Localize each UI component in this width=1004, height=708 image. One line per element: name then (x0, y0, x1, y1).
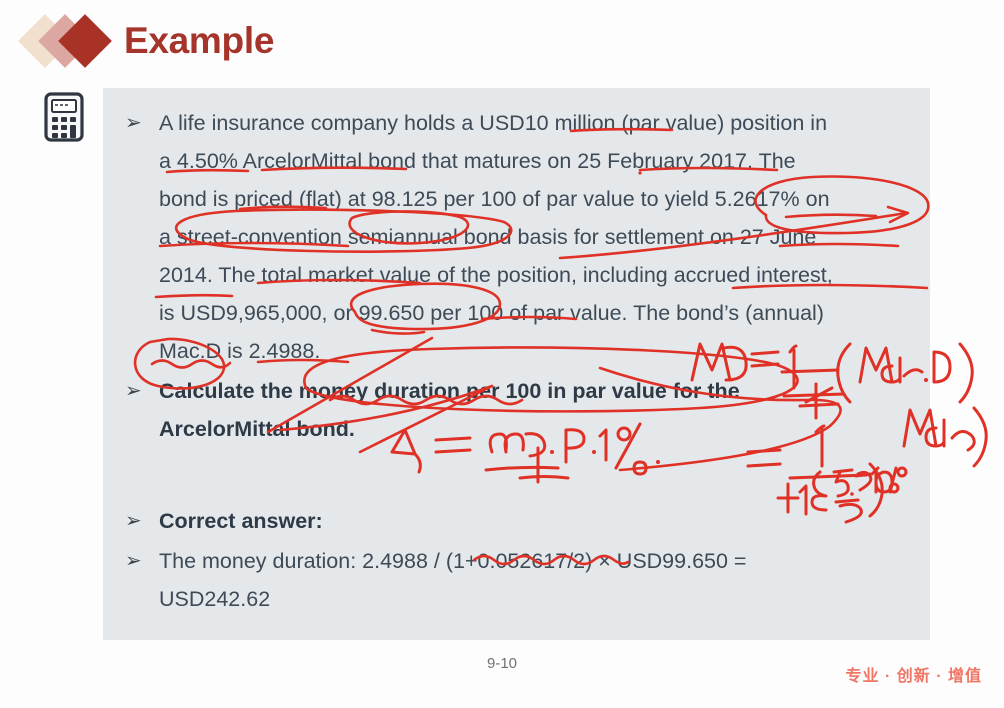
text-line: bond is priced (flat) at 98.125 per 100 … (159, 180, 900, 218)
page-title: Example (124, 20, 274, 62)
text-line: 2014. The total market value of the posi… (159, 256, 900, 294)
text-line: is USD9,965,000, or 99.650 per 100 of pa… (159, 294, 900, 332)
spacer (123, 450, 900, 502)
slide-title-row: Example (22, 12, 274, 70)
bullet-arrow-icon: ➢ (123, 542, 159, 580)
question-stem: A life insurance company holds a USD10 m… (159, 104, 900, 370)
text-line: USD242.62 (159, 580, 900, 618)
bullet-arrow-icon: ➢ (123, 502, 159, 540)
text-line: Correct answer: (159, 502, 900, 540)
list-item: ➢ Calculate the money duration per 100 i… (123, 372, 900, 448)
text-line: The money duration: 2.4988 / (1+0.052617… (159, 542, 900, 580)
logo-diamonds (22, 12, 130, 70)
content-body: ➢ A life insurance company holds a USD10… (103, 88, 930, 640)
list-item: ➢ A life insurance company holds a USD10… (123, 104, 900, 370)
list-item: ➢ The money duration: 2.4988 / (1+0.0526… (123, 542, 900, 618)
calculator-icon (44, 92, 84, 142)
list-item: ➢ Correct answer: (123, 502, 900, 540)
text-line: a 4.50% ArcelorMittal bond that matures … (159, 142, 900, 180)
text-line: A life insurance company holds a USD10 m… (159, 104, 900, 142)
footer-tagline: 专业 · 创新 · 增值 (846, 662, 982, 686)
correct-answer-label: Correct answer: (159, 502, 900, 540)
bullet-arrow-icon: ➢ (123, 104, 159, 142)
answer-body: The money duration: 2.4988 / (1+0.052617… (159, 542, 900, 618)
text-line: ArcelorMittal bond. (159, 410, 900, 448)
bullet-arrow-icon: ➢ (123, 372, 159, 410)
task-prompt: Calculate the money duration per 100 in … (159, 372, 900, 448)
text-line: Mac.D is 2.4988. (159, 332, 900, 370)
slide-canvas: Example (0, 0, 1004, 708)
text-line: a street-convention semiannual bond basi… (159, 218, 900, 256)
text-line: Calculate the money duration per 100 in … (159, 372, 900, 410)
content-panel: ➢ A life insurance company holds a USD10… (103, 88, 930, 640)
